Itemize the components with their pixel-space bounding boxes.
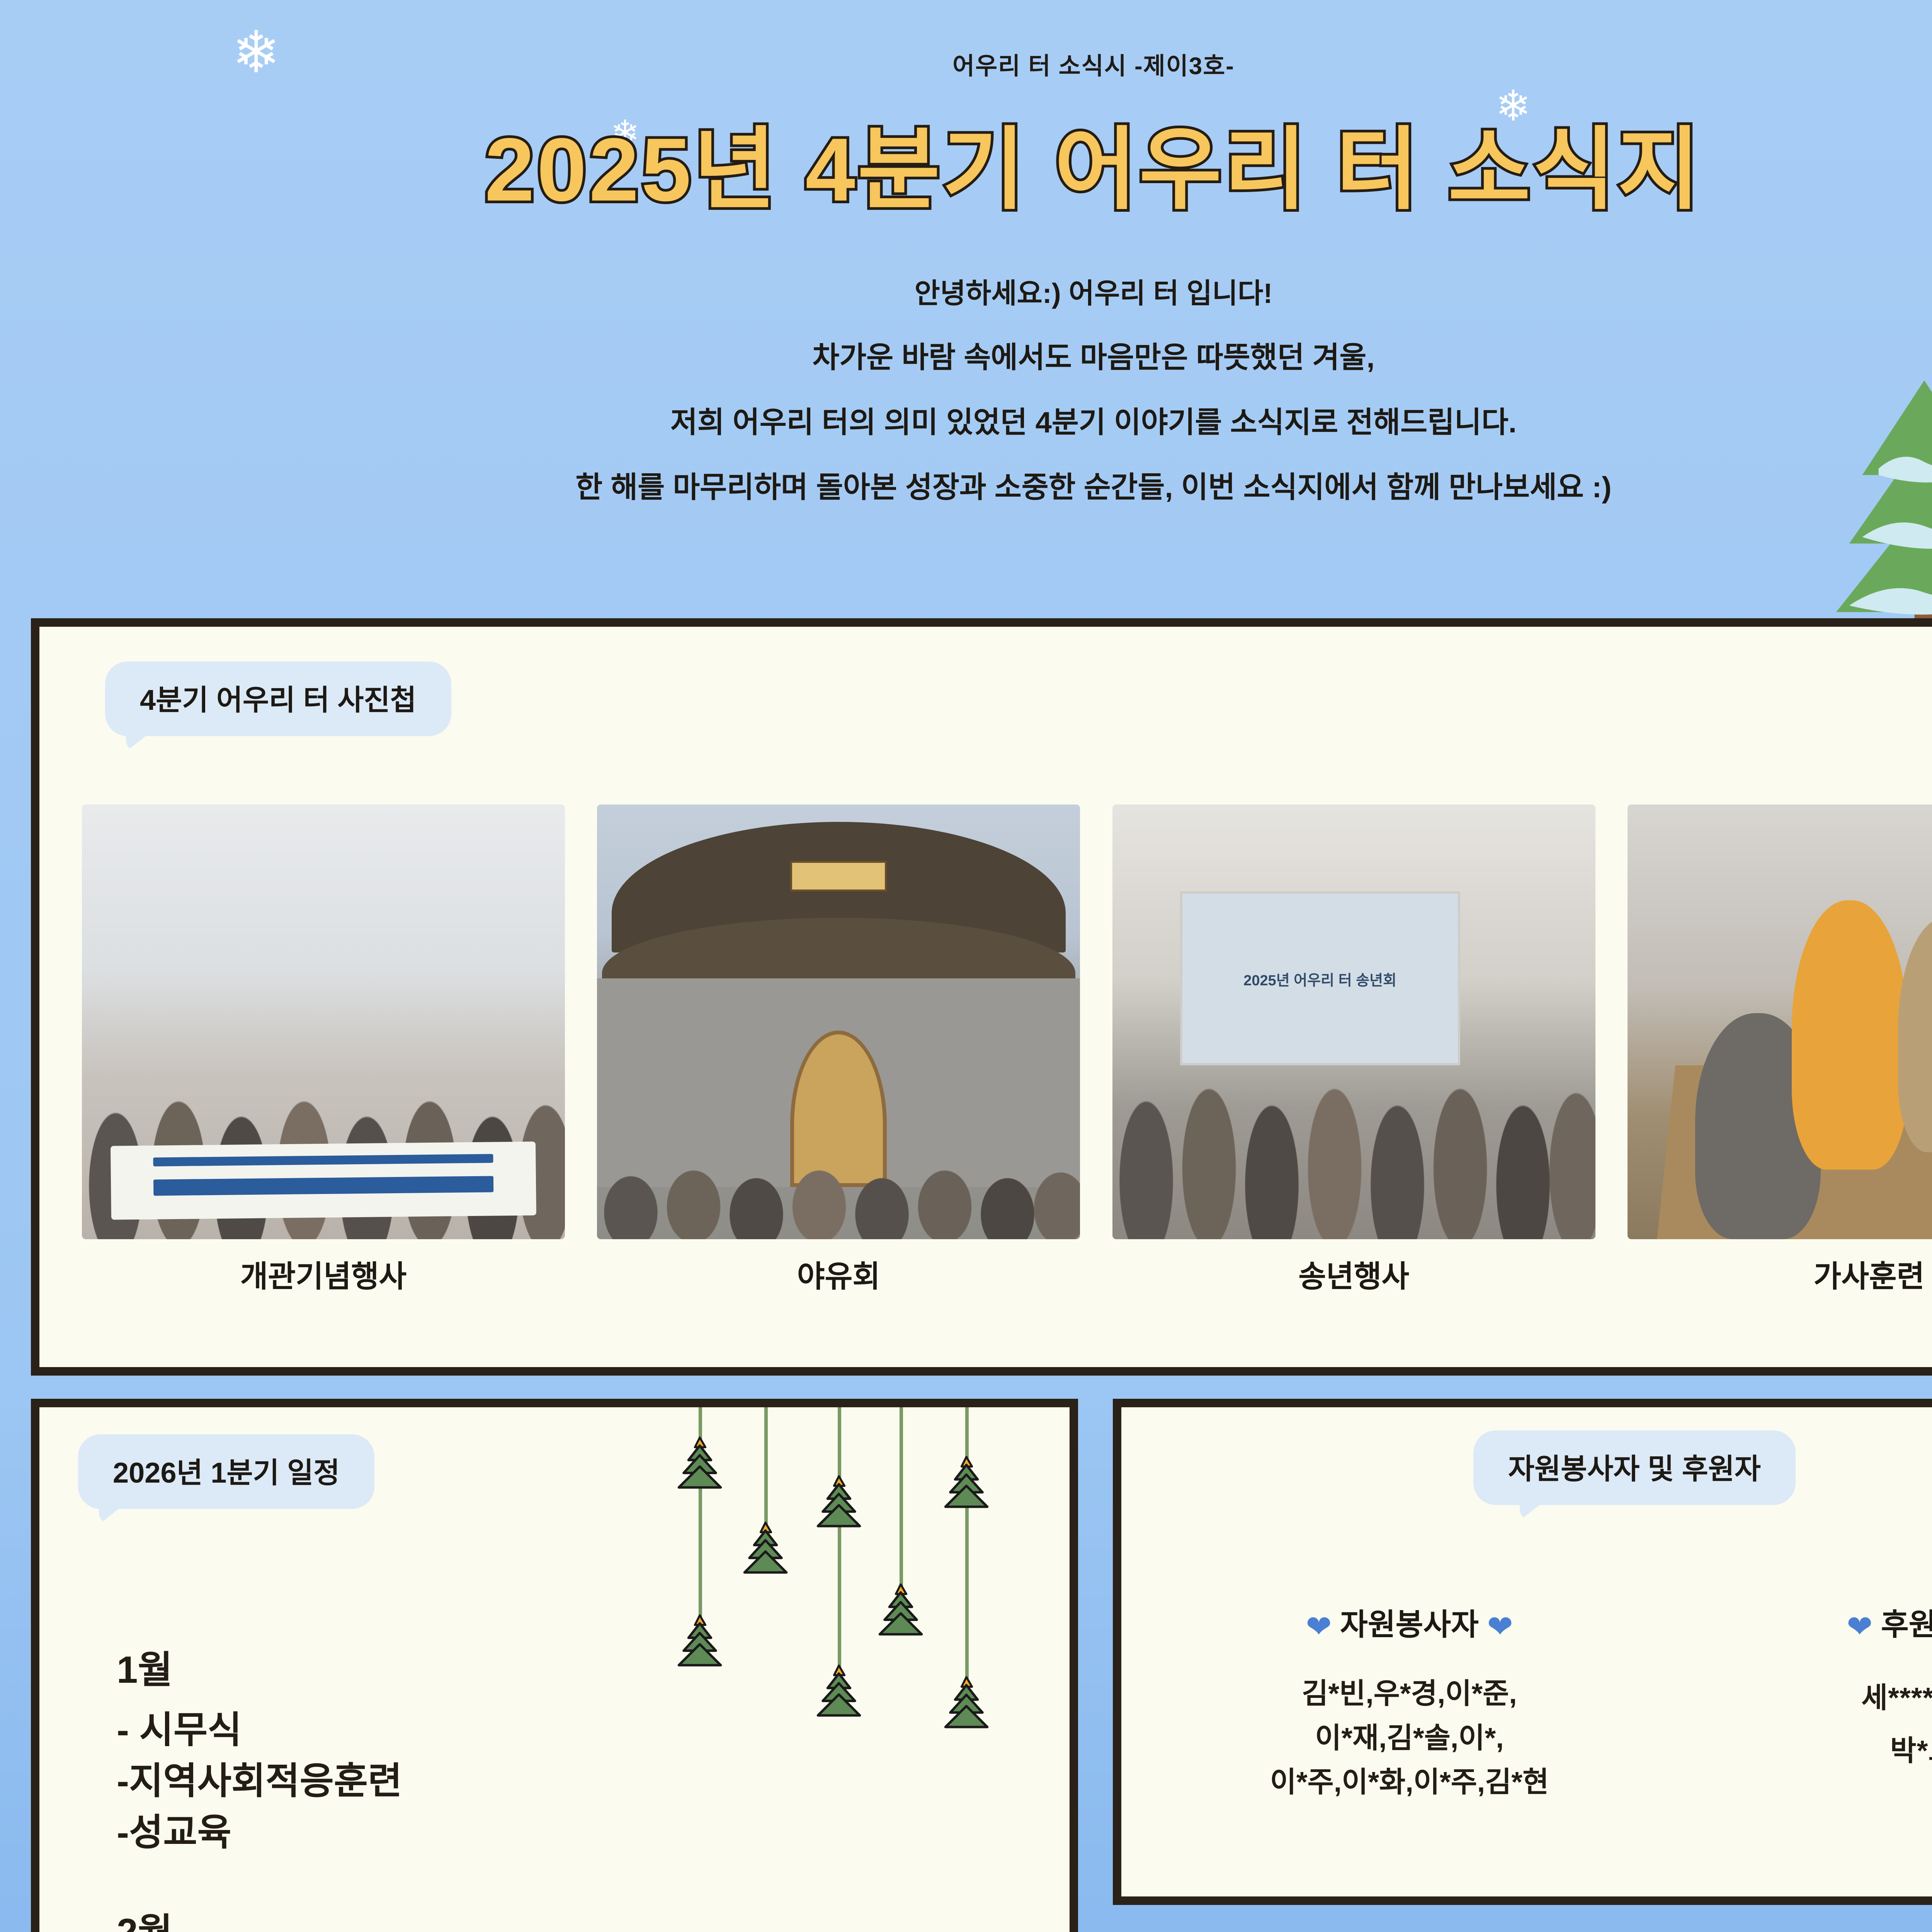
photo-album-panel: 4분기 어우리 터 사진첩 개관기념행사: [31, 618, 1932, 1376]
album-heading-text: 4분기 어우리 터 사진첩: [140, 684, 417, 716]
photo-item: 야유회: [597, 804, 1080, 1296]
volunteer-sponsor-panel: 자원봉사자 및 후원자 ❤ 자원봉사자 ❤ 김*빈,우*경,이*준, 이*재,김…: [1113, 1399, 1932, 1905]
schedule-panel: 2026년 1분기 일정: [31, 1399, 1078, 1932]
heart-icon: ❤: [1487, 1609, 1513, 1644]
heart-icon: ❤: [1847, 1609, 1872, 1644]
photo-banner: [111, 1141, 536, 1220]
photo-crowd: [597, 1144, 1080, 1240]
schedule-item: - 시무식: [117, 1705, 1005, 1756]
christmas-tree-icon: [941, 1454, 992, 1512]
hang-string: [838, 1407, 841, 1674]
volunteer-heading-bubble: 자원봉사자 및 후원자: [1121, 1430, 1932, 1505]
photo-year-end: 2025년 어우리 터 송년회: [1112, 804, 1595, 1239]
photo-outing: [597, 804, 1080, 1239]
hang-string: [900, 1407, 903, 1593]
banner-stripe: [153, 1153, 493, 1166]
christmas-tree-icon: [814, 1473, 864, 1531]
schedule-heading-bubble: 2026년 1분기 일정: [78, 1434, 374, 1509]
schedule-heading-text: 2026년 1분기 일정: [113, 1457, 340, 1489]
christmas-tree-icon: [876, 1581, 926, 1639]
intro-paragraph: 안녕하세요:) 어우리 터 입니다! 차가운 바람 속에서도 마음만은 따뜻했던…: [0, 270, 1932, 506]
month-label: 2월: [117, 1901, 1005, 1932]
person-figure: [1792, 900, 1908, 1170]
photo-caption: 야유회: [597, 1252, 1080, 1296]
newsletter-poster: ❄ ❄ ❄ ❄ ❄ ❄ 어우리 터 소식시 -제이3호- 2025년 4분기 어…: [0, 0, 1932, 1932]
page-title: 2025년 4분기 어우리 터 소식지: [0, 97, 1932, 226]
photo-item: 2025년 어우리 터 송년회 송년행사: [1112, 804, 1595, 1296]
person-figure: [1898, 918, 1932, 1153]
volunteer-title-text: 자원봉사자: [1340, 1607, 1479, 1641]
schedule-item: -지역사회적응훈련: [117, 1756, 1005, 1807]
sponsor-title-text: 후원자: [1881, 1607, 1932, 1641]
photo-item: 개관기념행사: [82, 804, 565, 1296]
schedule-item: -성교육: [117, 1807, 1005, 1858]
volunteer-heading-text: 자원봉사자 및 후원자: [1508, 1453, 1761, 1485]
christmas-tree-icon: [675, 1434, 725, 1492]
sponsor-column-title: ❤ 후원자 ❤: [1697, 1600, 1932, 1645]
schedule-list: 1월 - 시무식 -지역사회적응훈련 -성교육 2월 - 설명절행사 - 202…: [117, 1639, 1005, 1932]
sponsor-name-line: 박*모: [1697, 1725, 1932, 1777]
intro-line-3: 저희 어우리 터의 의미 있었던 4분기 이야기를 소식지로 전해드립니다.: [0, 398, 1932, 441]
hang-string: [764, 1407, 768, 1531]
photo-item: 가사훈련: [1628, 804, 1932, 1296]
album-heading-bubble: 4분기 어우리 터 사진첩: [105, 662, 451, 736]
issue-line: 어우리 터 소식시 -제이3호-: [0, 46, 1932, 81]
sponsor-column: ❤ 후원자 ❤ 세******스 박*모: [1697, 1600, 1932, 1804]
intro-line-4: 한 해를 마무리하며 돌아본 성장과 소중한 순간들, 이번 소식지에서 함께 …: [0, 463, 1932, 506]
photo-caption: 개관기념행사: [82, 1252, 565, 1296]
volunteer-column-title: ❤ 자원봉사자 ❤: [1121, 1600, 1697, 1645]
photo-caption: 가사훈련: [1628, 1252, 1932, 1296]
sponsor-name-line: 세******스: [1697, 1672, 1932, 1725]
intro-line-1: 안녕하세요:) 어우리 터 입니다!: [0, 270, 1932, 311]
month-block: 2월 - 설명절행사 - 2026년도 1분기 자치회의: [117, 1901, 1005, 1932]
gate-plaque: [790, 861, 887, 891]
month-label: 1월: [117, 1639, 1005, 1694]
volunteer-columns: ❤ 자원봉사자 ❤ 김*빈,우*경,이*준, 이*재,김*솔,이*, 이*주,이…: [1121, 1600, 1932, 1804]
photo-housework-training: [1628, 804, 1932, 1239]
photo-crowd: [1112, 1031, 1595, 1239]
speech-bubble: 자원봉사자 및 후원자: [1473, 1430, 1796, 1505]
heart-icon: ❤: [1306, 1609, 1332, 1644]
volunteer-name-line: 이*재,김*솔,이*,: [1121, 1716, 1697, 1760]
speech-bubble: 2026년 1분기 일정: [78, 1434, 374, 1509]
photo-caption: 송년행사: [1112, 1252, 1595, 1296]
screen-text: 2025년 어우리 터 송년회: [1182, 968, 1458, 990]
volunteer-column: ❤ 자원봉사자 ❤ 김*빈,우*경,이*준, 이*재,김*솔,이*, 이*주,이…: [1121, 1600, 1697, 1804]
volunteer-name-line: 김*빈,우*경,이*준,: [1121, 1672, 1697, 1716]
speech-bubble: 4분기 어우리 터 사진첩: [105, 662, 451, 736]
month-block: 1월 - 시무식 -지역사회적응훈련 -성교육: [117, 1639, 1005, 1858]
banner-stripe: [153, 1176, 493, 1196]
photo-row: 개관기념행사 야유회 2025년 어우리 터 송년회: [82, 804, 1932, 1296]
volunteer-name-line: 이*주,이*화,이*주,김*현: [1121, 1760, 1697, 1804]
photo-opening-ceremony: [82, 804, 565, 1239]
christmas-tree-icon: [740, 1519, 791, 1577]
intro-line-2: 차가운 바람 속에서도 마음만은 따뜻했던 겨울,: [0, 333, 1932, 376]
